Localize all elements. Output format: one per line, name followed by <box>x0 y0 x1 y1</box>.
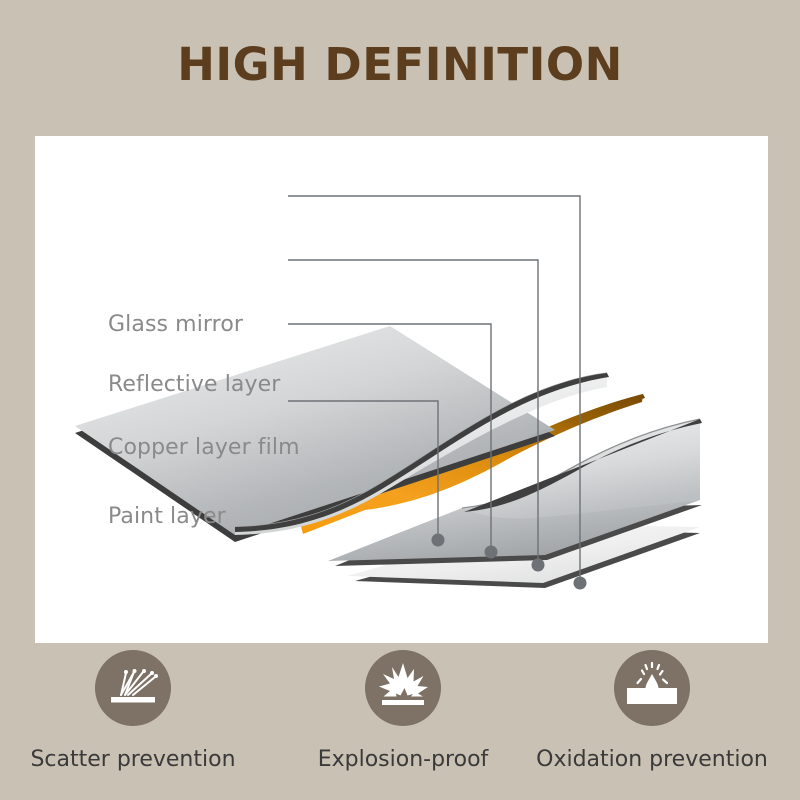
layer-label-reflective-layer: Reflective layer <box>108 372 280 397</box>
leader-dot-reflective <box>532 559 545 572</box>
product-feature-infographic: HIGH DEFINITION <box>0 0 800 800</box>
feature-explosion-proof: Explosion-proof <box>278 650 528 772</box>
page-title: HIGH DEFINITION <box>0 38 800 91</box>
layer-label-glass-mirror: Glass mirror <box>108 312 243 337</box>
explosion-proof-icon <box>365 650 441 726</box>
feature-label: Oxidation prevention <box>527 747 777 772</box>
feature-oxidation-prevention: Oxidation prevention <box>527 650 777 772</box>
feature-row: Scatter prevention Explosion-proof <box>0 650 800 800</box>
feature-label: Scatter prevention <box>8 747 258 772</box>
leader-dot-copper <box>485 546 498 559</box>
diagram-card: Glass mirror Reflective layer Copper lay… <box>35 136 768 643</box>
feature-label: Explosion-proof <box>278 747 528 772</box>
layer-label-paint-layer: Paint layer <box>108 504 226 529</box>
scatter-prevention-icon <box>95 650 171 726</box>
leader-dot-paint <box>432 534 445 547</box>
leader-dot-glass-mirror <box>574 577 587 590</box>
feature-icon-badge <box>365 650 441 726</box>
oxidation-prevention-icon <box>614 650 690 726</box>
feature-scatter-prevention: Scatter prevention <box>8 650 258 772</box>
feature-icon-badge <box>614 650 690 726</box>
feature-icon-badge <box>95 650 171 726</box>
layer-label-copper-layer-film: Copper layer film <box>108 435 300 460</box>
